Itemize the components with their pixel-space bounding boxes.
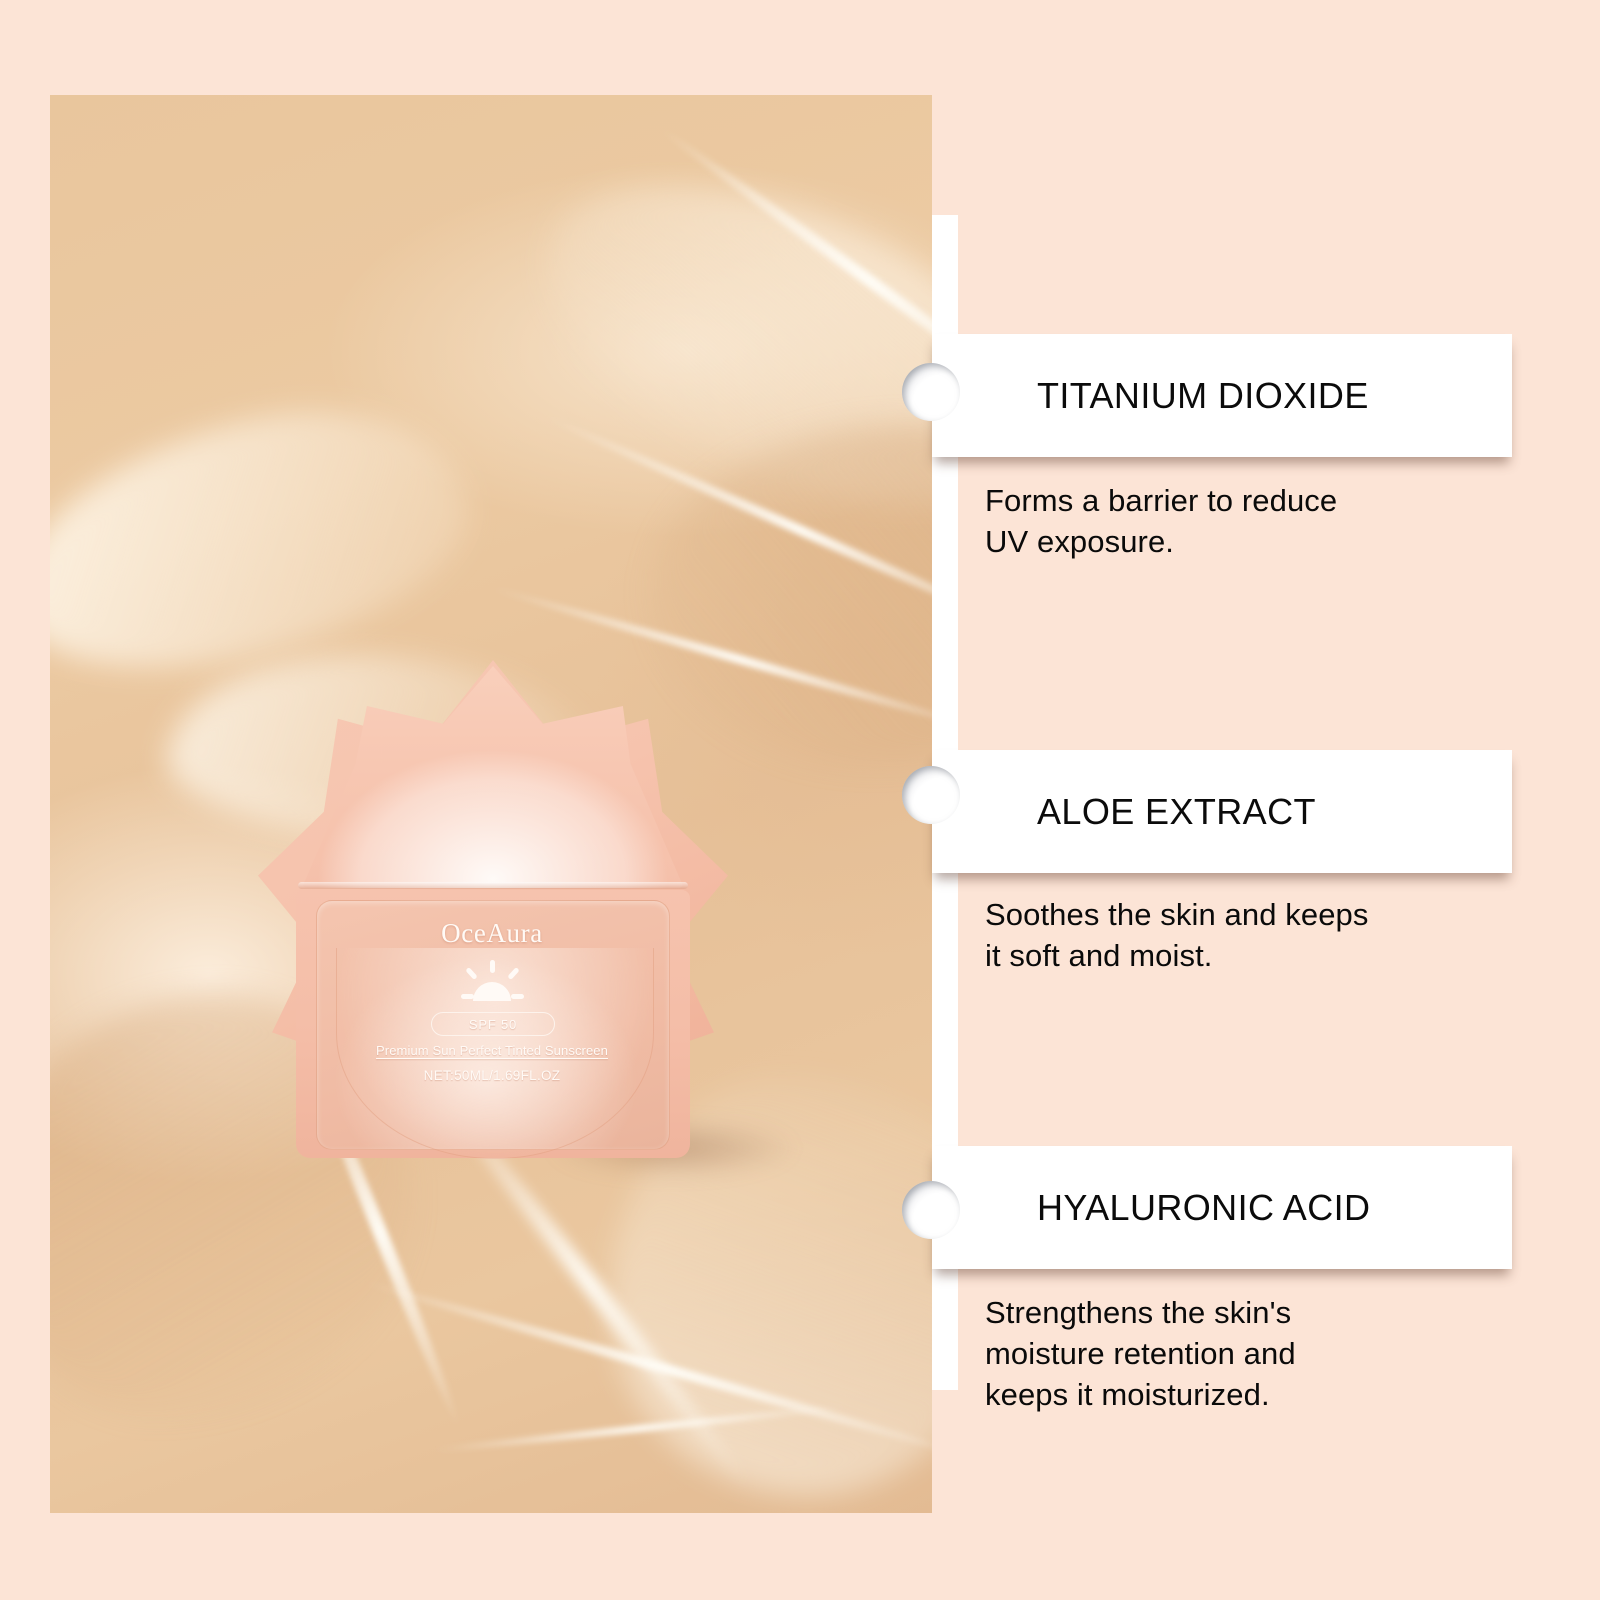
product-tagline: Premium Sun Perfect Tinted Sunscreen: [316, 1043, 668, 1058]
callout-title-bar: ALOE EXTRACT: [932, 750, 1512, 873]
callout-title: ALOE EXTRACT: [1037, 791, 1316, 833]
callout-description: Forms a barrier to reduce UV exposure.: [985, 480, 1525, 562]
callout-description: Strengthens the skin's moisture retentio…: [985, 1292, 1495, 1416]
bullet-circle-icon: [902, 1181, 960, 1239]
callout-title-bar: HYALURONIC ACID: [932, 1146, 1512, 1269]
half-sun-icon: [461, 960, 523, 1006]
infographic-stage: OceAura SPF 50 Premium Sun Perfect Tinte…: [0, 0, 1600, 1600]
callout-title: TITANIUM DIOXIDE: [1037, 375, 1369, 417]
lid-seam: [298, 882, 688, 889]
sunscreen-jar: OceAura SPF 50 Premium Sun Perfect Tinte…: [218, 600, 758, 1200]
spf-badge: SPF 50: [431, 1012, 555, 1036]
net-weight: NET:50ML/1.69FL.OZ: [316, 1068, 668, 1083]
callout-description: Soothes the skin and keeps it soft and m…: [985, 894, 1545, 976]
jar-lid: [302, 666, 684, 888]
bullet-circle-icon: [902, 363, 960, 421]
brand-name: OceAura: [316, 918, 668, 949]
product-photo: OceAura SPF 50 Premium Sun Perfect Tinte…: [50, 95, 932, 1513]
callout-title-bar: TITANIUM DIOXIDE: [932, 334, 1512, 457]
callout-title: HYALURONIC ACID: [1037, 1187, 1370, 1229]
bullet-circle-icon: [902, 766, 960, 824]
